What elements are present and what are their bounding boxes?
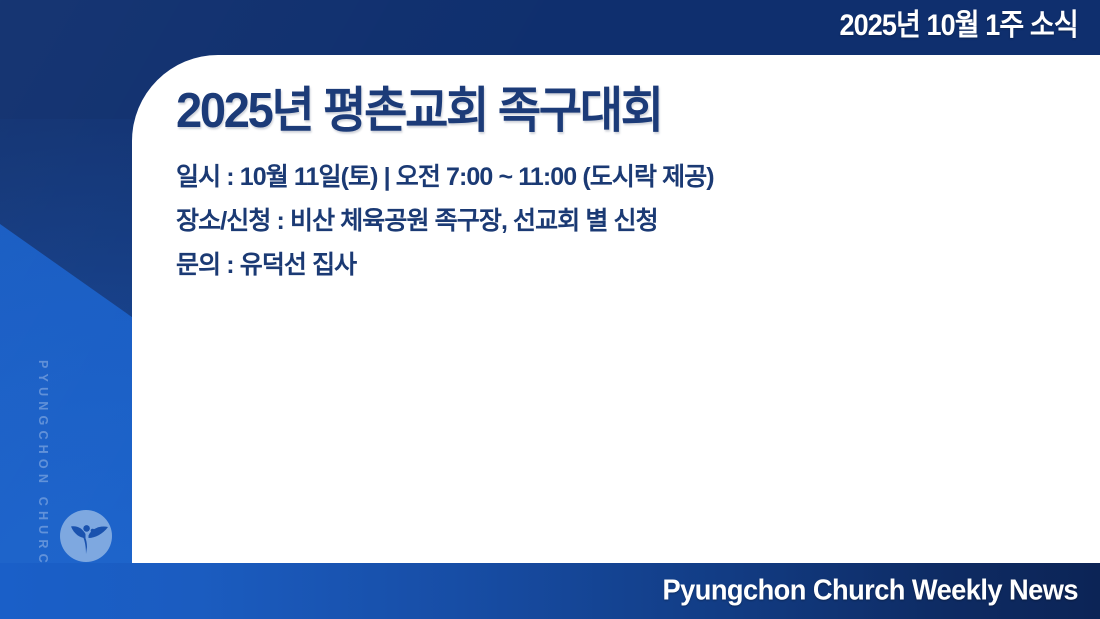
detail-line-datetime: 일시 : 10월 11일(토) | 오전 7:00 ~ 11:00 (도시락 제… <box>176 155 1056 199</box>
issue-label: 2025년 10월 1주 소식 <box>840 4 1078 48</box>
footer-title: Pyungchon Church Weekly News <box>663 575 1078 608</box>
page-title: 2025년 평촌교회 족구대회 <box>176 79 662 143</box>
vertical-wordmark: PYUNGCHON CHURCH <box>36 360 50 500</box>
detail-line-contact: 문의 : 유덕선 집사 <box>176 243 1056 287</box>
content-panel: 2025년 평촌교회 족구대회 일시 : 10월 11일(토) | 오전 7:0… <box>132 55 1100 563</box>
footer-bar: Pyungchon Church Weekly News <box>0 563 1100 619</box>
church-plant-logo-icon <box>58 508 114 564</box>
weekly-news-slide: 2025년 10월 1주 소식 2025년 평촌교회 족구대회 일시 : 10월… <box>0 0 1100 619</box>
detail-list: 일시 : 10월 11일(토) | 오전 7:00 ~ 11:00 (도시락 제… <box>176 155 1056 287</box>
detail-line-location: 장소/신청 : 비산 체육공원 족구장, 선교회 별 신청 <box>176 199 1056 243</box>
